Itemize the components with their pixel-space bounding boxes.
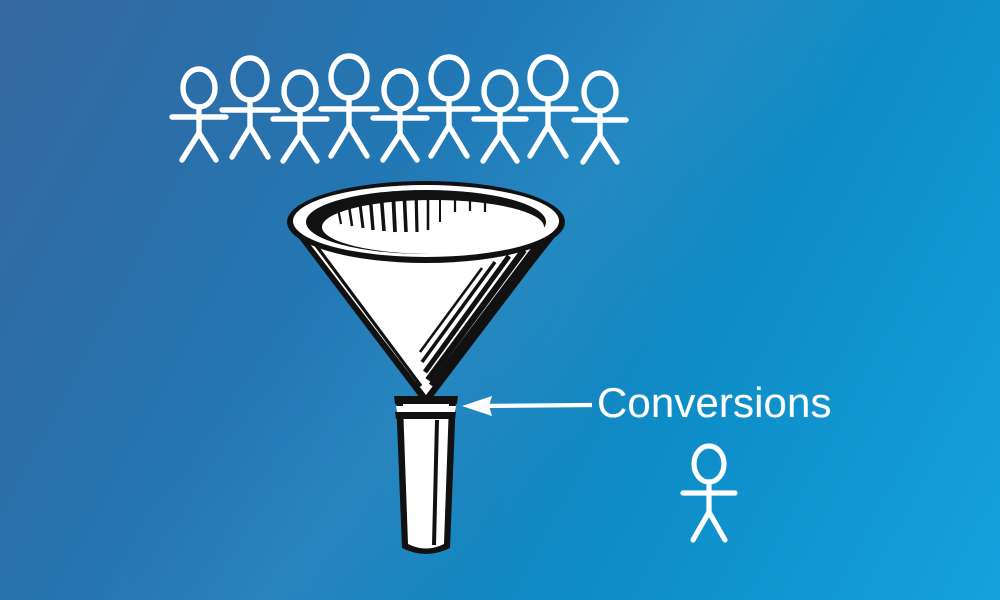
illustration-canvas: Conversions bbox=[0, 0, 1000, 600]
converted-stick-figure bbox=[683, 446, 735, 540]
converted-customer-group bbox=[0, 0, 1000, 600]
conversions-label: Conversions bbox=[597, 381, 832, 425]
converted-figure bbox=[683, 446, 735, 540]
